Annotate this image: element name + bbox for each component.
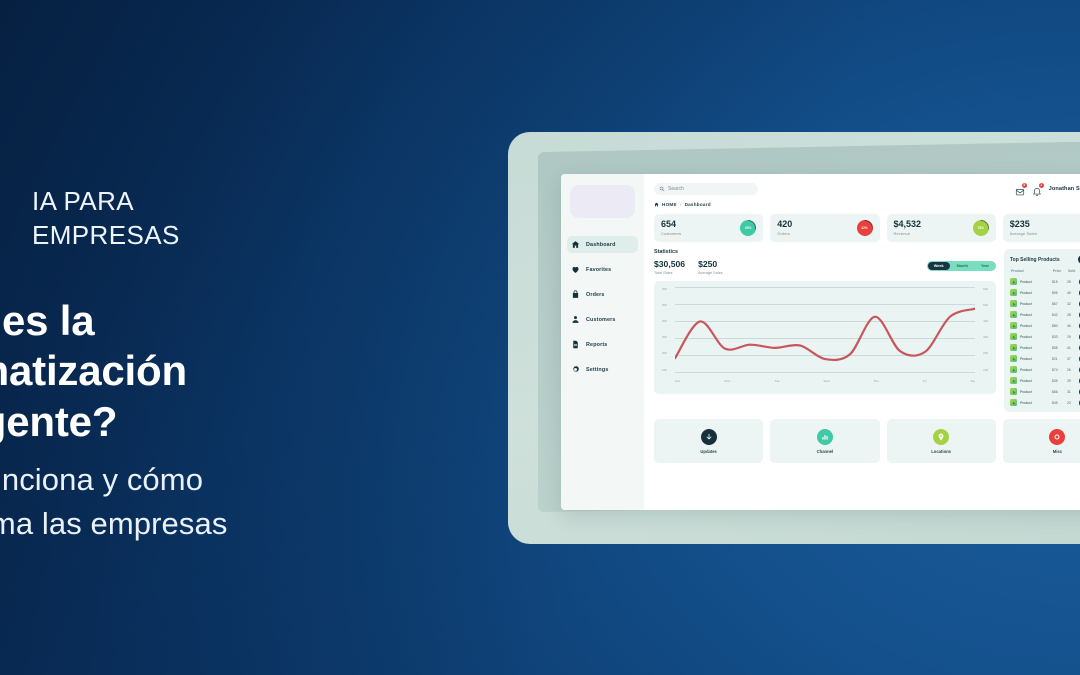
range-toggle[interactable]: Week Month Year (927, 261, 996, 271)
top-selling-header: Top Selling Products See More › (1010, 255, 1080, 264)
brand-eyebrow: IA PARA EMPRESAS (32, 184, 180, 253)
product-price: $67 (1052, 302, 1067, 306)
quick-card-locations[interactable]: Locations (887, 419, 996, 463)
mail-icon (1015, 187, 1025, 197)
product-price: $80 (1052, 324, 1067, 328)
table-row[interactable]: Product$3929View Details (1010, 375, 1080, 386)
product-thumbnail-icon (1010, 300, 1017, 307)
product-thumbnail-icon (1010, 355, 1017, 362)
y-tick: 400 (983, 319, 988, 323)
quick-card-channel[interactable]: Channel (770, 419, 879, 463)
bar-chart-icon (817, 429, 833, 445)
heart-icon (571, 265, 580, 274)
donut-percent: 42% (861, 226, 867, 230)
download-icon (701, 429, 717, 445)
product-sold: 29 (1067, 379, 1079, 383)
donut-percent: 78% (978, 226, 984, 230)
product-name: Product (1020, 280, 1052, 284)
table-row[interactable]: Product$4228View Details (1010, 309, 1080, 320)
breadcrumb-current: Dashboard (685, 202, 711, 207)
product-name: Product (1020, 291, 1052, 295)
product-name: Product (1020, 302, 1052, 306)
product-thumbnail-icon (1010, 344, 1017, 351)
progress-donut: 65% (740, 220, 756, 236)
average-sales-value: $250 (698, 260, 723, 269)
sidebar-label-dashboard: Dashboard (586, 242, 616, 248)
quick-card-misc[interactable]: Misc (1003, 419, 1080, 463)
product-price: $66 (1052, 390, 1067, 394)
x-axis-labels: Sun Mon Tue Wed Thu Fri Sat (675, 379, 975, 383)
product-name: Product (1020, 335, 1052, 339)
range-option-year[interactable]: Year (975, 262, 995, 270)
quick-card-label: Locations (931, 449, 951, 454)
statistics-title: Statistics (654, 249, 996, 255)
top-selling-products-panel: Top Selling Products See More › Product … (1004, 249, 1080, 412)
table-row[interactable]: Product$9545View Details (1010, 287, 1080, 298)
product-thumbnail-icon (1010, 311, 1017, 318)
table-row[interactable]: Product$1525View Details (1010, 276, 1080, 287)
x-tick: Mon (724, 379, 730, 383)
sidebar-label-reports: Reports (586, 342, 607, 348)
y-tick: 500 (662, 303, 673, 307)
quick-card-updates[interactable]: Updates (654, 419, 763, 463)
stat-card-average-sales[interactable]: $235 Average Sales 55% (1003, 214, 1080, 242)
sidebar-item-orders[interactable]: Orders (567, 286, 638, 303)
sidebar-item-favorites[interactable]: Favorites (567, 261, 638, 278)
average-sales: $250 Average Sales (698, 260, 723, 275)
product-thumbnail-icon (1010, 278, 1017, 285)
product-sold: 31 (1067, 390, 1079, 394)
column-sold: Sold (1068, 269, 1080, 273)
x-tick: Fri (923, 379, 927, 383)
sidebar-item-customers[interactable]: Customers (567, 311, 638, 328)
y-tick: 600 (662, 287, 673, 291)
home-icon (654, 202, 659, 207)
progress-donut: 78% (973, 220, 989, 236)
product-name: Product (1020, 379, 1052, 383)
chart-area: 600 500 400 300 200 100 600 500 400 300 (662, 287, 988, 383)
product-name: Product (1020, 313, 1052, 317)
sidebar-item-reports[interactable]: Reports (567, 336, 638, 353)
product-sold: 25 (1067, 280, 1079, 284)
table-row[interactable]: Product$4923View Details (1010, 397, 1080, 408)
product-price: $33 (1052, 335, 1067, 339)
stat-card-customers[interactable]: 654 Customers 65% (654, 214, 763, 242)
y-tick: 100 (983, 368, 988, 372)
product-thumbnail-icon (1010, 399, 1017, 406)
bell-badge: 1 (1039, 183, 1044, 188)
stat-card-revenue[interactable]: $4,532 Revenue 78% (887, 214, 996, 242)
y-axis-left: 600 500 400 300 200 100 (662, 287, 673, 372)
map-pin-icon (933, 429, 949, 445)
stat-label: Revenue (894, 231, 922, 236)
sidebar-label-orders: Orders (586, 292, 605, 298)
product-thumbnail-icon (1010, 289, 1017, 296)
table-row[interactable]: Product$3319View Details (1010, 331, 1080, 342)
stat-card-orders[interactable]: 420 Orders 42% (770, 214, 879, 242)
gridline (675, 372, 975, 373)
x-tick: Sat (970, 379, 975, 383)
bell-icon (1032, 187, 1042, 197)
products-table-body: Product$1525View DetailsProduct$9545View… (1010, 276, 1080, 408)
stat-label: Customers (661, 231, 681, 236)
quick-card-label: Channel (817, 449, 834, 454)
stat-cards-row: 654 Customers 65% 420 Orders 42% $4,532 (654, 214, 1080, 242)
y-tick: 200 (662, 351, 673, 355)
sidebar-label-settings: Settings (586, 367, 608, 373)
product-price: $21 (1052, 357, 1067, 361)
product-name: Product (1020, 368, 1052, 372)
quick-card-label: Misc (1053, 449, 1062, 454)
y-tick: 500 (983, 303, 988, 307)
table-row[interactable]: Product$2137View Details (1010, 353, 1080, 364)
y-axis-right: 600 500 400 300 200 100 (977, 287, 988, 372)
product-thumbnail-icon (1010, 366, 1017, 373)
stat-value: 420 (777, 220, 792, 229)
chart-line-path (675, 287, 975, 372)
product-price: $49 (1052, 401, 1067, 405)
x-tick: Wed (823, 379, 829, 383)
product-sold: 19 (1067, 335, 1079, 339)
total-sales: $30,506 Total Sales (654, 260, 685, 275)
product-sold: 45 (1067, 291, 1079, 295)
product-sold: 37 (1067, 357, 1079, 361)
x-tick: Thu (874, 379, 879, 383)
x-tick: Sun (675, 379, 680, 383)
topbar: Search 3 1 Jonathan Smith (654, 182, 1080, 195)
y-tick: 300 (983, 335, 988, 339)
home-icon (571, 240, 580, 249)
statistics-panel: Statistics $30,506 Total Sales $250 Aver… (654, 249, 996, 412)
y-tick: 300 (662, 335, 673, 339)
product-sold: 23 (1067, 401, 1079, 405)
table-row[interactable]: Product$7426View Details (1010, 364, 1080, 375)
sidebar: Dashboard Favorites Orders Customers Rep (561, 174, 644, 510)
product-thumbnail-icon (1010, 322, 1017, 329)
search-input[interactable]: Search (654, 183, 758, 195)
user-name: Jonathan Smith (1049, 186, 1080, 192)
y-tick: 200 (983, 351, 988, 355)
range-option-month[interactable]: Month (951, 262, 974, 270)
product-sold: 41 (1067, 346, 1079, 350)
product-name: Product (1020, 324, 1052, 328)
table-row[interactable]: Product$6732View Details (1010, 298, 1080, 309)
person-icon (571, 315, 580, 324)
sidebar-label-favorites: Favorites (586, 267, 611, 273)
search-placeholder: Search (668, 186, 684, 192)
range-option-week[interactable]: Week (928, 262, 950, 270)
product-thumbnail-icon (1010, 333, 1017, 340)
product-price: $39 (1052, 379, 1067, 383)
product-price: $42 (1052, 313, 1067, 317)
y-tick: 100 (662, 368, 673, 372)
quick-card-label: Updates (700, 449, 717, 454)
donut-percent: 65% (745, 226, 751, 230)
sidebar-logo (570, 185, 635, 218)
progress-donut: 42% (857, 220, 873, 236)
statistics-totals: $30,506 Total Sales $250 Average Sales W… (654, 260, 996, 275)
product-price: $58 (1052, 346, 1067, 350)
products-table-header: Product Price Sold View Details (1010, 269, 1080, 276)
product-name: Product (1020, 346, 1052, 350)
total-sales-value: $30,506 (654, 260, 685, 269)
breadcrumb-separator: › (680, 202, 682, 207)
bag-icon (571, 290, 580, 299)
top-selling-title: Top Selling Products (1010, 257, 1060, 263)
stat-value: $235 (1010, 220, 1037, 229)
search-icon (659, 186, 665, 192)
stat-label: Average Sales (1010, 231, 1037, 236)
hero-subheadline: Cómo funciona y cómo transforma las empr… (0, 458, 464, 546)
product-sold: 28 (1067, 313, 1079, 317)
table-row[interactable]: Product$5841View Details (1010, 342, 1080, 353)
topbar-actions: 3 1 Jonathan Smith (1015, 182, 1080, 195)
stat-value: $4,532 (894, 220, 922, 229)
total-sales-label: Total Sales (654, 271, 685, 275)
breadcrumb: HOME › Dashboard (654, 202, 1080, 207)
product-price: $95 (1052, 291, 1067, 295)
product-name: Product (1020, 390, 1052, 394)
quick-cards-row: Updates Channel Locations Misc (654, 419, 1080, 463)
column-price: Price (1053, 269, 1068, 273)
product-sold: 32 (1067, 302, 1079, 306)
product-name: Product (1020, 401, 1052, 405)
sidebar-label-customers: Customers (586, 317, 616, 323)
stat-value: 654 (661, 220, 681, 229)
sidebar-item-dashboard[interactable]: Dashboard (567, 236, 638, 253)
sales-line-chart: 600 500 400 300 200 100 600 500 400 300 (654, 281, 996, 394)
product-price: $15 (1052, 280, 1067, 284)
product-thumbnail-icon (1010, 388, 1017, 395)
document-icon (571, 340, 580, 349)
table-row[interactable]: Product$6631View Details (1010, 386, 1080, 397)
table-row[interactable]: Product$8046View Details (1010, 320, 1080, 331)
column-product: Product (1011, 269, 1053, 273)
circle-icon (1049, 429, 1065, 445)
gear-icon (571, 365, 580, 374)
product-sold: 26 (1067, 368, 1079, 372)
product-thumbnail-icon (1010, 377, 1017, 384)
dashboard-main: Search 3 1 Jonathan Smith HOME (644, 174, 1080, 510)
y-tick: 600 (983, 287, 988, 291)
breadcrumb-home[interactable]: HOME (662, 202, 677, 207)
product-sold: 46 (1067, 324, 1079, 328)
dashboard-window: Dashboard Favorites Orders Customers Rep (561, 174, 1080, 510)
y-tick: 400 (662, 319, 673, 323)
average-sales-label: Average Sales (698, 271, 723, 275)
mail-button[interactable]: 3 (1015, 184, 1025, 194)
notifications-button[interactable]: 1 (1032, 184, 1042, 194)
x-tick: Tue (774, 379, 779, 383)
statistics-and-products: Statistics $30,506 Total Sales $250 Aver… (654, 249, 1080, 412)
product-name: Product (1020, 357, 1052, 361)
sidebar-item-settings[interactable]: Settings (567, 361, 638, 378)
stat-label: Orders (777, 231, 792, 236)
product-price: $74 (1052, 368, 1067, 372)
hero-headline: ¿Qué es la automatización inteligente? (0, 296, 444, 447)
mail-badge: 3 (1022, 183, 1027, 188)
